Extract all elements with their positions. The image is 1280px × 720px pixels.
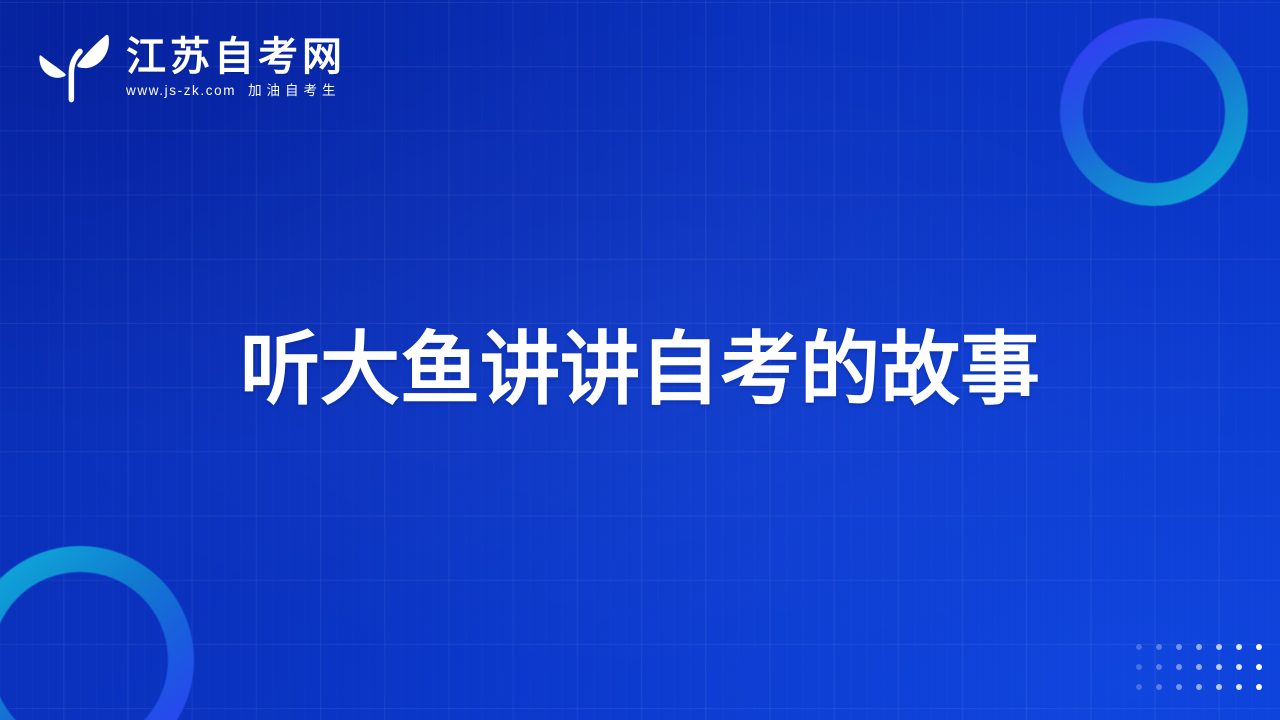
logo-title: 江苏自考网	[126, 37, 346, 77]
logo-slogan: 加油自考生	[248, 84, 341, 98]
logo-url: www.js-zk.com	[126, 84, 236, 98]
headline-title: 听大鱼讲讲自考的故事	[0, 324, 1280, 415]
logo-text-block: 江苏自考网 www.js-zk.com 加油自考生	[126, 37, 346, 98]
logo-subtitle: www.js-zk.com 加油自考生	[126, 84, 346, 98]
slide-canvas: 江苏自考网 www.js-zk.com 加油自考生 听大鱼讲讲自考的故事	[0, 0, 1280, 720]
site-logo[interactable]: 江苏自考网 www.js-zk.com 加油自考生	[36, 30, 346, 104]
sprout-icon	[36, 30, 112, 104]
